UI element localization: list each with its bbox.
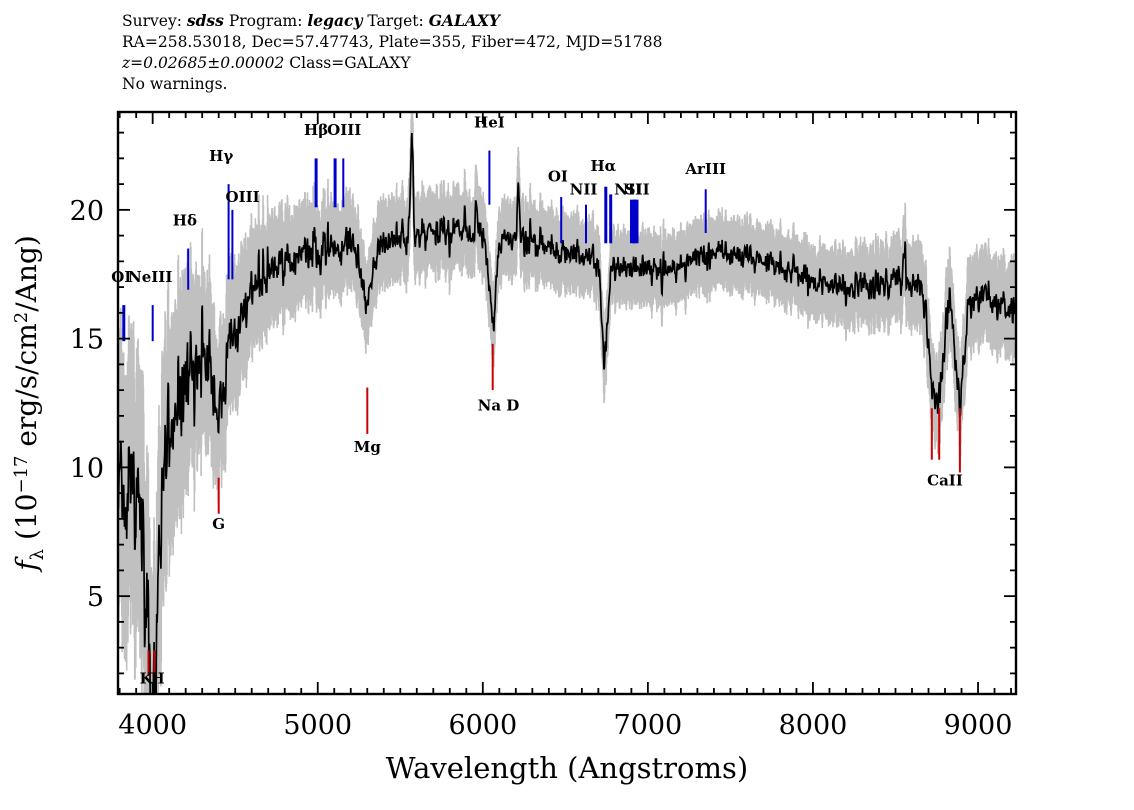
emission-line-NII-label: NII bbox=[570, 180, 598, 198]
absorption-line-Mg-label: Mg bbox=[354, 438, 382, 456]
absorption-line-CaII-label: CaII bbox=[927, 471, 963, 489]
spectrum-svg: OINeIIIHδHγOIIIHβOIIIHeIOINIIHαNIISIIArI… bbox=[0, 0, 1134, 810]
emission-line-ArIII-label: ArIII bbox=[684, 160, 726, 178]
x-tick-label: 9000 bbox=[944, 710, 1013, 741]
y-tick-label: 5 bbox=[87, 582, 104, 613]
absorption-line-G-label: G bbox=[212, 515, 225, 533]
x-tick-label: 5000 bbox=[283, 710, 352, 741]
y-axis-title: fλ (10−17 erg/s/cm2/Ang) bbox=[10, 235, 48, 573]
emission-line-Hβ-label: Hβ bbox=[304, 121, 328, 139]
x-tick-label: 8000 bbox=[779, 710, 848, 741]
emission-line-Hγ-label: Hγ bbox=[209, 147, 233, 165]
y-tick-label: 20 bbox=[70, 196, 104, 227]
emission-line-Hδ-label: Hδ bbox=[173, 211, 197, 229]
emission-line-Hα-label: Hα bbox=[590, 157, 616, 175]
x-axis-title: Wavelength (Angstroms) bbox=[386, 751, 748, 785]
x-tick-label: 6000 bbox=[448, 710, 517, 741]
emission-line-OIII-label: OIII bbox=[226, 188, 260, 206]
y-tick-label: 15 bbox=[70, 325, 104, 356]
x-tick-label: 7000 bbox=[614, 710, 683, 741]
emission-line-SII-label: SII bbox=[625, 180, 650, 198]
absorption-line-Na-D-label: Na D bbox=[478, 397, 520, 415]
emission-line-NeIII-label: NeIII bbox=[128, 268, 172, 286]
emission-line-OIII-label: OIII bbox=[327, 121, 361, 139]
emission-line-OI-label: OI bbox=[548, 168, 568, 186]
x-tick-label: 4000 bbox=[118, 710, 187, 741]
y-tick-label: 10 bbox=[70, 453, 104, 484]
spectrum-plot: OINeIIIHδHγOIIIHβOIIIHeIOINIIHαNIISIIArI… bbox=[0, 0, 1134, 810]
